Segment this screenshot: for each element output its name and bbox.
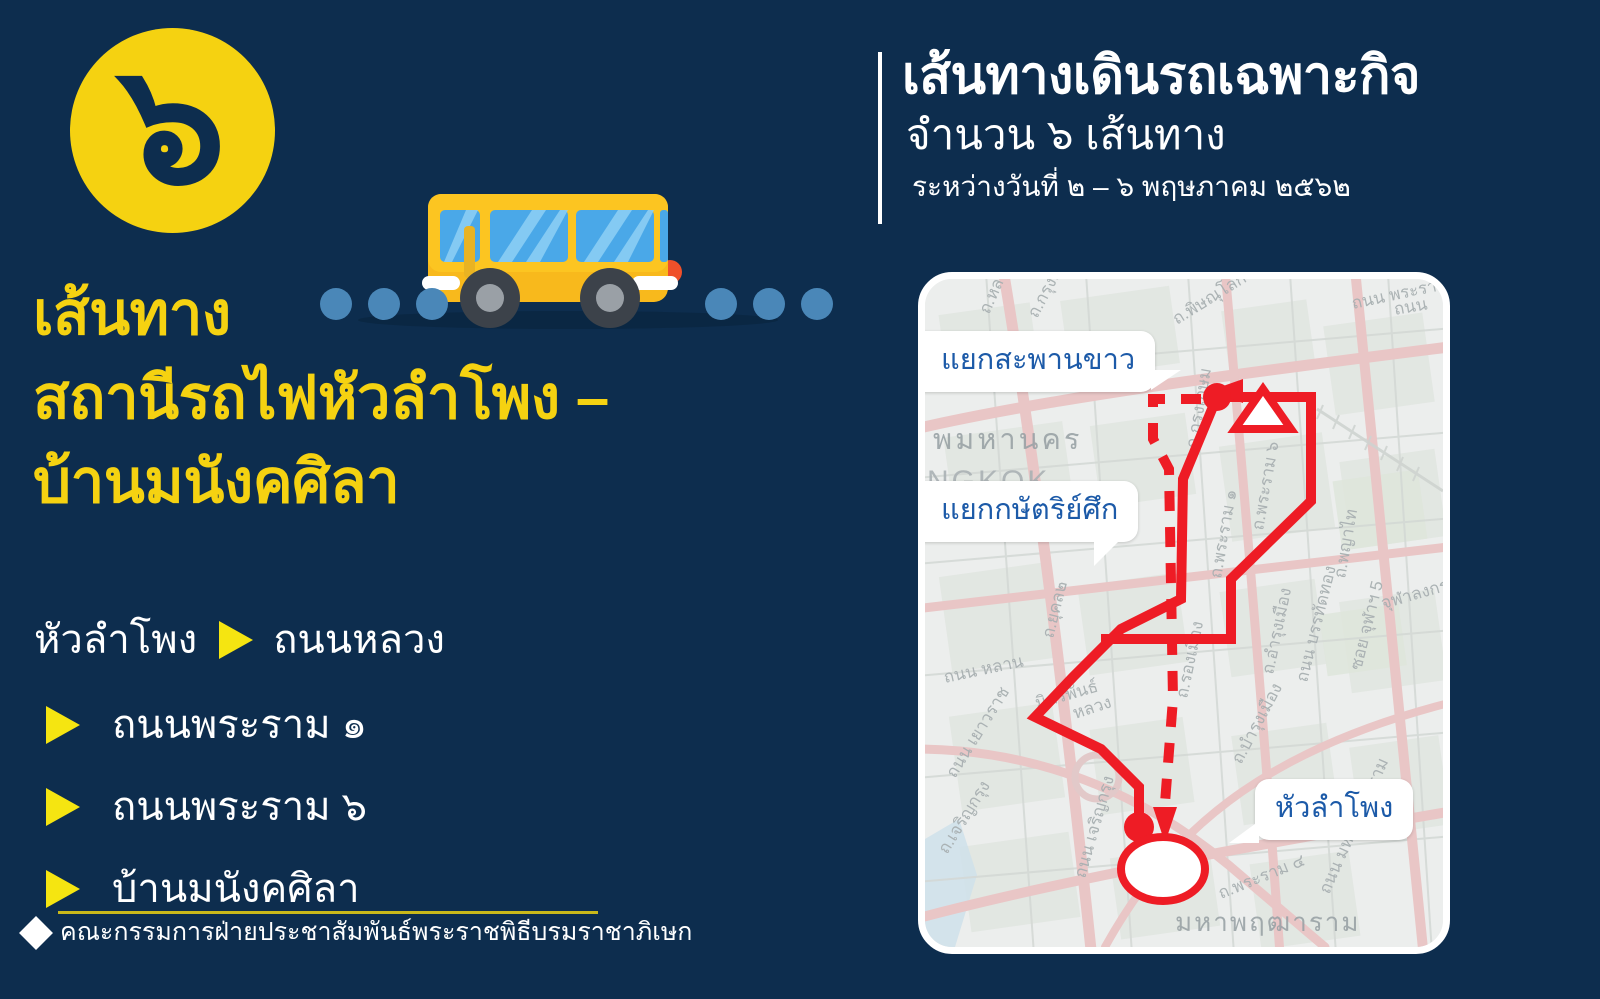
route-title-line-2: สถานีรถไฟหัวลำโพง – <box>33 356 723 440</box>
motion-dot <box>801 288 833 320</box>
arrow-right-icon <box>46 706 80 744</box>
footer-credit-label: คณะกรรมการฝ่ายประชาสัมพันธ์พระราชพิธีบรม… <box>60 920 692 945</box>
header-line-1: เส้นทางเดินรถเฉพาะกิจ <box>902 46 1420 107</box>
route-stop-row: ถนนพระราม ๖ <box>34 766 734 848</box>
route-stop-label: ถนนพระราม ๖ <box>112 787 367 827</box>
map-label-saphan-khao[interactable]: แยกสะพานขาว <box>921 331 1155 392</box>
map-label-text: หัวลำโพง <box>1275 792 1393 824</box>
route-stop-label: บ้านมนังคศิลา <box>112 869 360 909</box>
route-map-card[interactable]: พมหานคร NGKOK มหาพฤฒาราม ถ.พิษณุโลก ถ.กร… <box>918 272 1450 954</box>
route-stop-row: ถนนพระราม ๑ <box>34 684 734 766</box>
motion-dots-right <box>705 288 833 320</box>
tooltip-tail <box>1229 805 1259 843</box>
header-line-2: จำนวน ๖ เส้นทาง <box>902 109 1420 162</box>
route-title-line-1: เส้นทาง <box>33 272 723 356</box>
map-label-text: แยกสะพานขาว <box>941 344 1135 376</box>
map-canvas: พมหานคร NGKOK มหาพฤฒาราม ถ.พิษณุโลก ถ.กร… <box>925 279 1443 947</box>
map-label-text: แยกกษัตริย์ศึก <box>941 494 1118 526</box>
route-stop-label: ถนนพระราม ๑ <box>112 705 367 745</box>
footer-credit: คณะกรรมการฝ่ายประชาสัมพันธ์พระราชพิธีบรม… <box>24 920 692 945</box>
svg-text:พมหานคร: พมหานคร <box>933 424 1082 456</box>
route-stop-row: หัวลำโพง ถนนหลวง <box>34 596 734 684</box>
number-badge-numeral: ๖ <box>70 28 275 233</box>
route-stop-list: หัวลำโพง ถนนหลวง ถนนพระราม ๑ ถนนพระราม ๖… <box>34 596 734 930</box>
map-label-hua-lamphong[interactable]: หัวลำโพง <box>1255 779 1413 840</box>
route-origin-label: หัวลำโพง <box>34 620 197 660</box>
diamond-bullet-icon <box>19 916 53 950</box>
poster-root: ๖ <box>0 0 1600 999</box>
tooltip-tail <box>1151 370 1181 390</box>
tooltip-tail <box>1094 540 1120 566</box>
footer-divider <box>58 911 598 914</box>
header-divider <box>878 52 882 224</box>
route-title: เส้นทาง สถานีรถไฟหัวลำโพง – บ้านมนังคศิล… <box>33 272 723 524</box>
route-title-line-3: บ้านมนังคศิลา <box>33 440 723 524</box>
arrow-right-icon <box>46 788 80 826</box>
route-stop-label: ถนนหลวง <box>273 620 445 660</box>
arrow-right-icon <box>219 621 253 659</box>
svg-text:มหาพฤฒาราม: มหาพฤฒาราม <box>1175 907 1361 937</box>
map-label-kasat-suek[interactable]: แยกกษัตริย์ศึก <box>921 481 1138 542</box>
motion-dot <box>753 288 785 320</box>
header-line-3: ระหว่างวันที่ ๒ – ๖ พฤษภาคม ๒๕๖๒ <box>902 170 1420 204</box>
header-block: เส้นทางเดินรถเฉพาะกิจ จำนวน ๖ เส้นทาง ระ… <box>902 46 1420 203</box>
arrow-right-icon <box>46 870 80 908</box>
